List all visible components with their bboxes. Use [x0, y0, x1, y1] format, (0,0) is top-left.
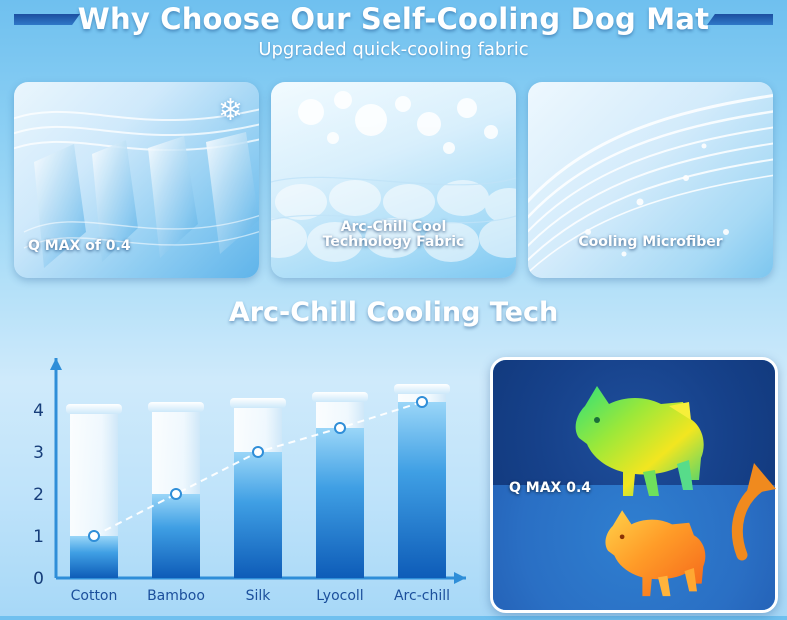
- cooling-bar-chart: 0 1 2 3 4: [0, 340, 500, 616]
- chart-bars: [66, 384, 450, 578]
- feature-card-caption: Q MAX of 0.4: [14, 232, 259, 264]
- feature-card-list: ❄ Q MAX of 0.4: [14, 82, 773, 278]
- y-tick: 2: [33, 485, 44, 505]
- y-tick-labels: 0 1 2 3 4: [33, 401, 44, 589]
- orange-arrow-icon: [718, 455, 787, 565]
- snowflake-icon: ❄: [218, 96, 243, 126]
- x-tick-cotton: Cotton: [71, 588, 118, 604]
- thermal-dog-hot-icon: [605, 510, 705, 596]
- bar-cotton[interactable]: [66, 404, 122, 578]
- value-marker: [171, 489, 181, 499]
- page-title: Why Choose Our Self-Cooling Dog Mat: [0, 2, 787, 36]
- feature-card-cooling-microfiber[interactable]: Cooling Microfiber: [528, 82, 773, 278]
- y-axis-arrow-icon: [50, 358, 62, 370]
- x-tick-lyocoll: Lyocoll: [316, 588, 363, 604]
- caption-line-1: Arc-Chill Cool: [341, 219, 447, 235]
- y-tick: 0: [33, 569, 44, 589]
- x-tick-labels: Cotton Bamboo Silk Lyocoll Arc-chill: [71, 588, 450, 604]
- bar-lyocoll[interactable]: [312, 392, 368, 578]
- section-title: Arc-Chill Cooling Tech: [0, 297, 787, 328]
- feature-card-caption: Arc-Chill Cool Technology Fabric: [271, 213, 516, 260]
- value-marker: [335, 423, 345, 433]
- y-tick: 4: [33, 401, 44, 421]
- qmax-badge: Q MAX 0.4: [509, 480, 591, 496]
- thermal-dog-cool-icon: [576, 386, 704, 496]
- page-subtitle: Upgraded quick-cooling fabric: [0, 39, 787, 60]
- bar-silk[interactable]: [230, 398, 286, 578]
- value-marker: [417, 397, 427, 407]
- value-marker: [89, 531, 99, 541]
- bar-arc-chill[interactable]: [394, 384, 450, 578]
- chart-svg: 0 1 2 3 4: [0, 340, 500, 616]
- x-tick-arc-chill: Arc-chill: [394, 588, 450, 604]
- y-tick: 1: [33, 527, 44, 547]
- x-tick-silk: Silk: [246, 588, 272, 604]
- x-axis-arrow-icon: [454, 572, 466, 584]
- caption-line-2: Technology Fabric: [323, 234, 465, 250]
- x-tick-bamboo: Bamboo: [147, 588, 205, 604]
- feature-card-qmax[interactable]: ❄ Q MAX of 0.4: [14, 82, 259, 278]
- feature-card-caption: Cooling Microfiber: [528, 228, 773, 260]
- feature-card-arcchill-fabric[interactable]: Arc-Chill Cool Technology Fabric: [271, 82, 516, 278]
- y-tick: 3: [33, 443, 44, 463]
- value-marker: [253, 447, 263, 457]
